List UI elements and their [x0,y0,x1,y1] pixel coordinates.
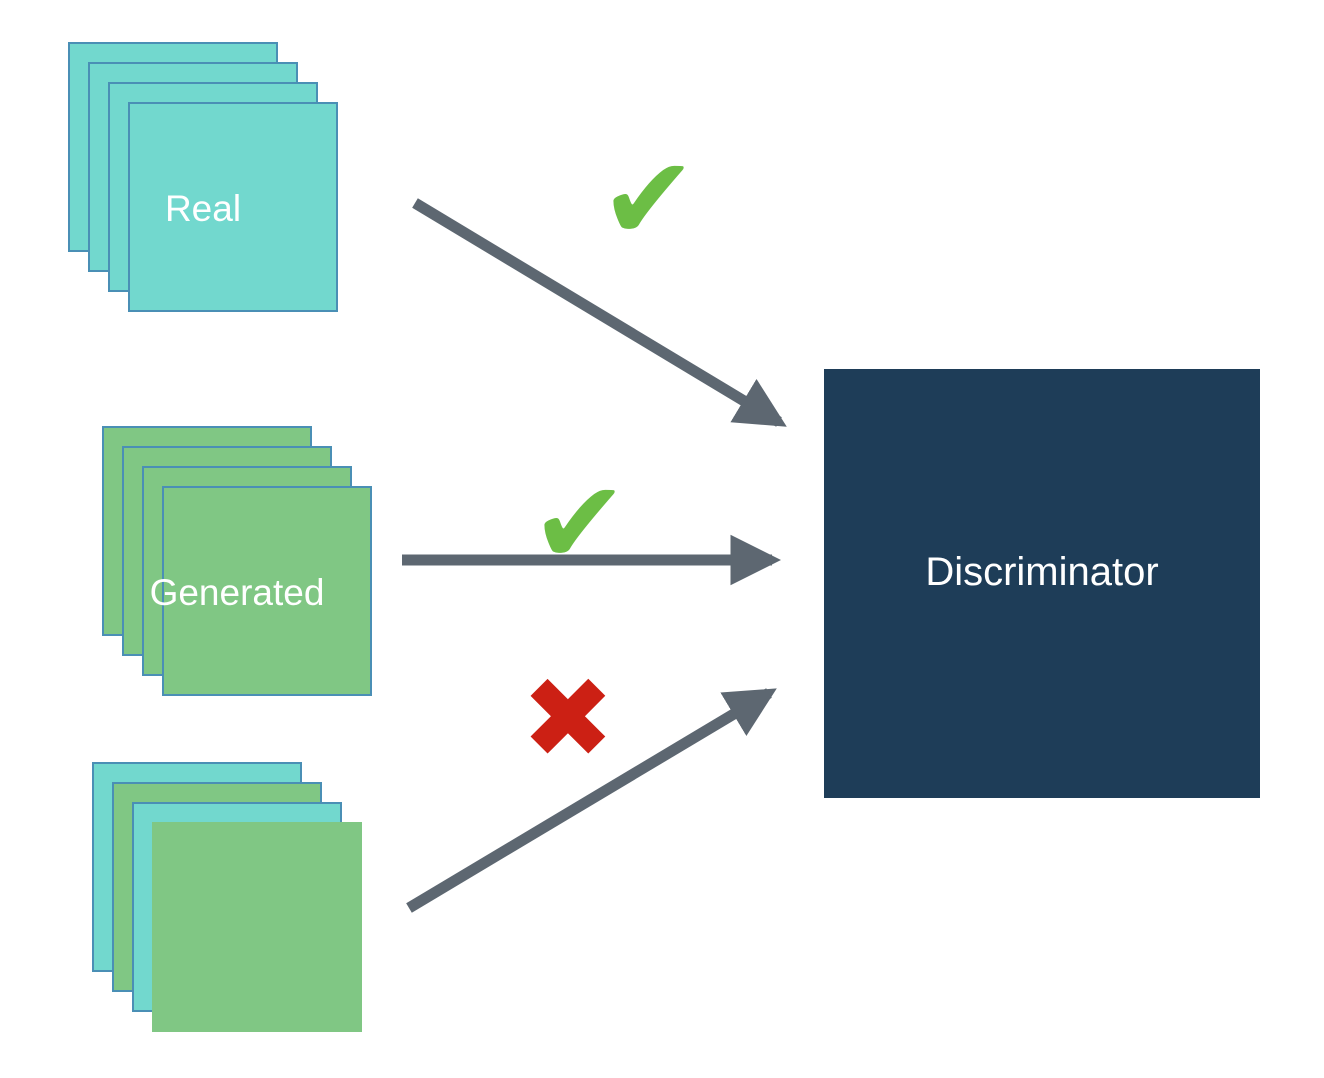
check-icon-real: ✔ [600,142,697,258]
generated-image-stack[interactable]: Generated [102,426,372,696]
stack-layer [128,102,338,312]
discriminator-label: Discriminator [824,552,1260,592]
stack-layer [162,486,372,696]
diagram-canvas: Real Generated Discriminator ✔ [0,0,1324,1078]
check-icon-generated: ✔ [531,466,628,582]
mixed-image-stack[interactable] [92,762,362,1032]
real-image-stack[interactable]: Real [68,42,338,312]
discriminator-box[interactable]: Discriminator [824,369,1260,798]
stack-layer [152,822,362,1032]
arrow-real-to-discriminator [415,203,779,422]
cross-icon-mixed: ✖ [521,663,615,775]
